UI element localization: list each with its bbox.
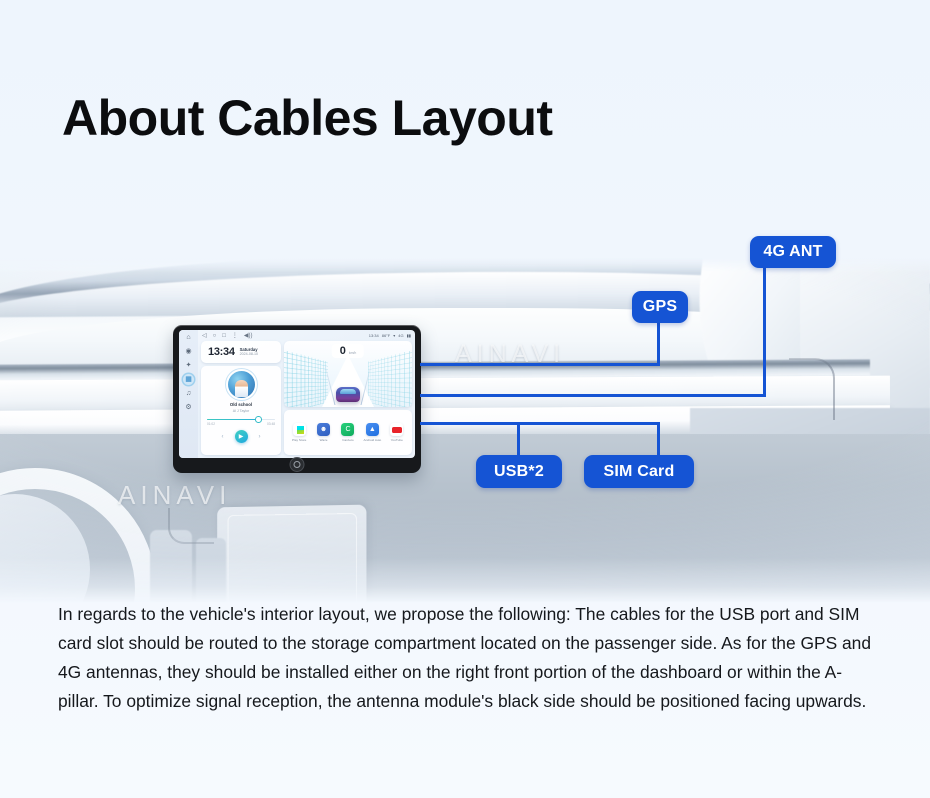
app-waze[interactable]: ☻ Waze: [313, 423, 335, 442]
page-root: About Cables Layout AINAVI AINAVI ⌂ ◉: [0, 0, 930, 798]
clock-time: 13:34: [208, 346, 235, 358]
speed-unit: km/h: [349, 351, 356, 355]
rail-home-icon[interactable]: ⌂: [183, 332, 194, 343]
description-paragraph: In regards to the vehicle's interior lay…: [58, 600, 876, 716]
head-unit-main: ◁ ○ □ ⋮ ◀)) 13:34 86°F ▾ 4G ▮▮: [198, 330, 415, 458]
app-carauto[interactable]: C CarAuto: [337, 423, 359, 442]
progress-times: 01:02 03:48: [207, 422, 275, 426]
back-icon[interactable]: ◁: [202, 332, 207, 339]
app-play-store[interactable]: Play Store: [288, 423, 310, 442]
vehicle-avatar-icon: [336, 387, 360, 402]
signal-icon: ▮▮: [407, 333, 411, 338]
head-unit-right-column: 0 km/h Play Store ☻: [284, 341, 412, 455]
progress-knob[interactable]: [256, 417, 261, 422]
app-label: Android Auto: [364, 438, 382, 442]
nav-grid-right: [368, 350, 412, 407]
speed-value: 0: [340, 345, 346, 357]
remaining-time: 03:48: [267, 422, 275, 426]
elapsed-time: 01:02: [207, 422, 215, 426]
head-unit-side-rail[interactable]: ⌂ ◉ ✦ ▦ ♫ ⚙: [179, 330, 198, 458]
youtube-icon[interactable]: [390, 423, 403, 436]
page-title: About Cables Layout: [62, 88, 553, 148]
head-unit-left-column: 13:34 Saturday 2024-08-10 Old school Al …: [201, 341, 281, 455]
previous-icon[interactable]: ‹: [222, 434, 224, 440]
app-android-auto[interactable]: ▲ Android Auto: [361, 423, 383, 442]
rail-apps-icon[interactable]: ◉: [183, 346, 194, 357]
album-art: [228, 371, 255, 398]
brand-watermark-floor: AINAVI: [118, 480, 231, 511]
next-icon[interactable]: ›: [259, 434, 261, 440]
callout-sim-card[interactable]: SIM Card: [584, 455, 694, 488]
app-label: CarAuto: [342, 438, 353, 442]
status-temp: 86°F: [382, 333, 391, 338]
rail-settings-icon[interactable]: ⚙: [183, 402, 194, 413]
app-youtube[interactable]: YouTube: [386, 423, 408, 442]
connector-gps-vertical: [657, 321, 660, 365]
clock-date: 2024-08-10: [240, 352, 258, 356]
clock-subtext: Saturday 2024-08-10: [240, 347, 258, 357]
callout-gps[interactable]: GPS: [632, 291, 688, 323]
recents-icon[interactable]: □: [222, 333, 226, 339]
connector-4g-vertical: [763, 266, 766, 396]
app-label: Play Store: [292, 438, 306, 442]
home-icon[interactable]: ○: [213, 333, 217, 339]
callout-4g-ant[interactable]: 4G ANT: [750, 236, 836, 268]
transport-controls: ‹ ▶ ›: [222, 430, 261, 443]
speed-readout: 0 km/h: [332, 344, 364, 358]
head-unit-screen[interactable]: ⌂ ◉ ✦ ▦ ♫ ⚙ ◁ ○ □ ⋮ ◀)) 13:34 86°F: [179, 330, 415, 458]
head-unit-device[interactable]: ⌂ ◉ ✦ ▦ ♫ ⚙ ◁ ○ □ ⋮ ◀)) 13:34 86°F: [173, 325, 421, 473]
car-interior-photo: AINAVI AINAVI: [0, 258, 930, 603]
app-label: Waze: [320, 438, 328, 442]
connector-line-1: [420, 363, 660, 366]
status-right-cluster: 13:34 86°F ▾ 4G ▮▮: [369, 333, 411, 338]
photo-vignette: [0, 258, 930, 603]
play-store-icon[interactable]: [293, 423, 306, 436]
app-label: YouTube: [391, 438, 403, 442]
connector-sim-vertical: [657, 422, 660, 457]
rail-music-icon[interactable]: ♫: [183, 388, 194, 399]
rail-grid-icon[interactable]: ▦: [183, 374, 194, 385]
progress-slider[interactable]: [207, 419, 275, 421]
status-network: 4G: [398, 333, 403, 338]
waze-icon[interactable]: ☻: [317, 423, 330, 436]
physical-home-button[interactable]: [290, 457, 305, 472]
head-unit-widgets: 13:34 Saturday 2024-08-10 Old school Al …: [198, 341, 415, 458]
rail-bluetooth-icon[interactable]: ✦: [183, 360, 194, 371]
progress-area: 01:02 03:48: [207, 419, 275, 427]
play-icon[interactable]: ▶: [235, 430, 248, 443]
callout-usb[interactable]: USB*2: [476, 455, 562, 488]
navigation-widget[interactable]: 0 km/h: [284, 341, 412, 407]
android-auto-icon[interactable]: ▲: [366, 423, 379, 436]
status-time: 13:34: [369, 333, 379, 338]
progress-fill: [207, 419, 256, 421]
music-widget[interactable]: Old school Al J Taylor 01:02 03:48: [201, 366, 281, 455]
carauto-icon[interactable]: C: [341, 423, 354, 436]
connector-line-3: [420, 422, 660, 425]
menu-icon[interactable]: ⋮: [232, 332, 238, 339]
volume-icon[interactable]: ◀)): [244, 332, 253, 339]
head-unit-status-bar: ◁ ○ □ ⋮ ◀)) 13:34 86°F ▾ 4G ▮▮: [198, 330, 415, 341]
song-title: Old school: [230, 402, 252, 407]
app-shortcuts: Play Store ☻ Waze C CarAuto ▲: [284, 410, 412, 455]
connector-line-2: [420, 394, 766, 397]
song-artist: Al J Taylor: [233, 409, 250, 413]
clock-widget[interactable]: 13:34 Saturday 2024-08-10: [201, 341, 281, 363]
wifi-icon: ▾: [393, 333, 395, 338]
connector-usb-vertical: [517, 422, 520, 457]
